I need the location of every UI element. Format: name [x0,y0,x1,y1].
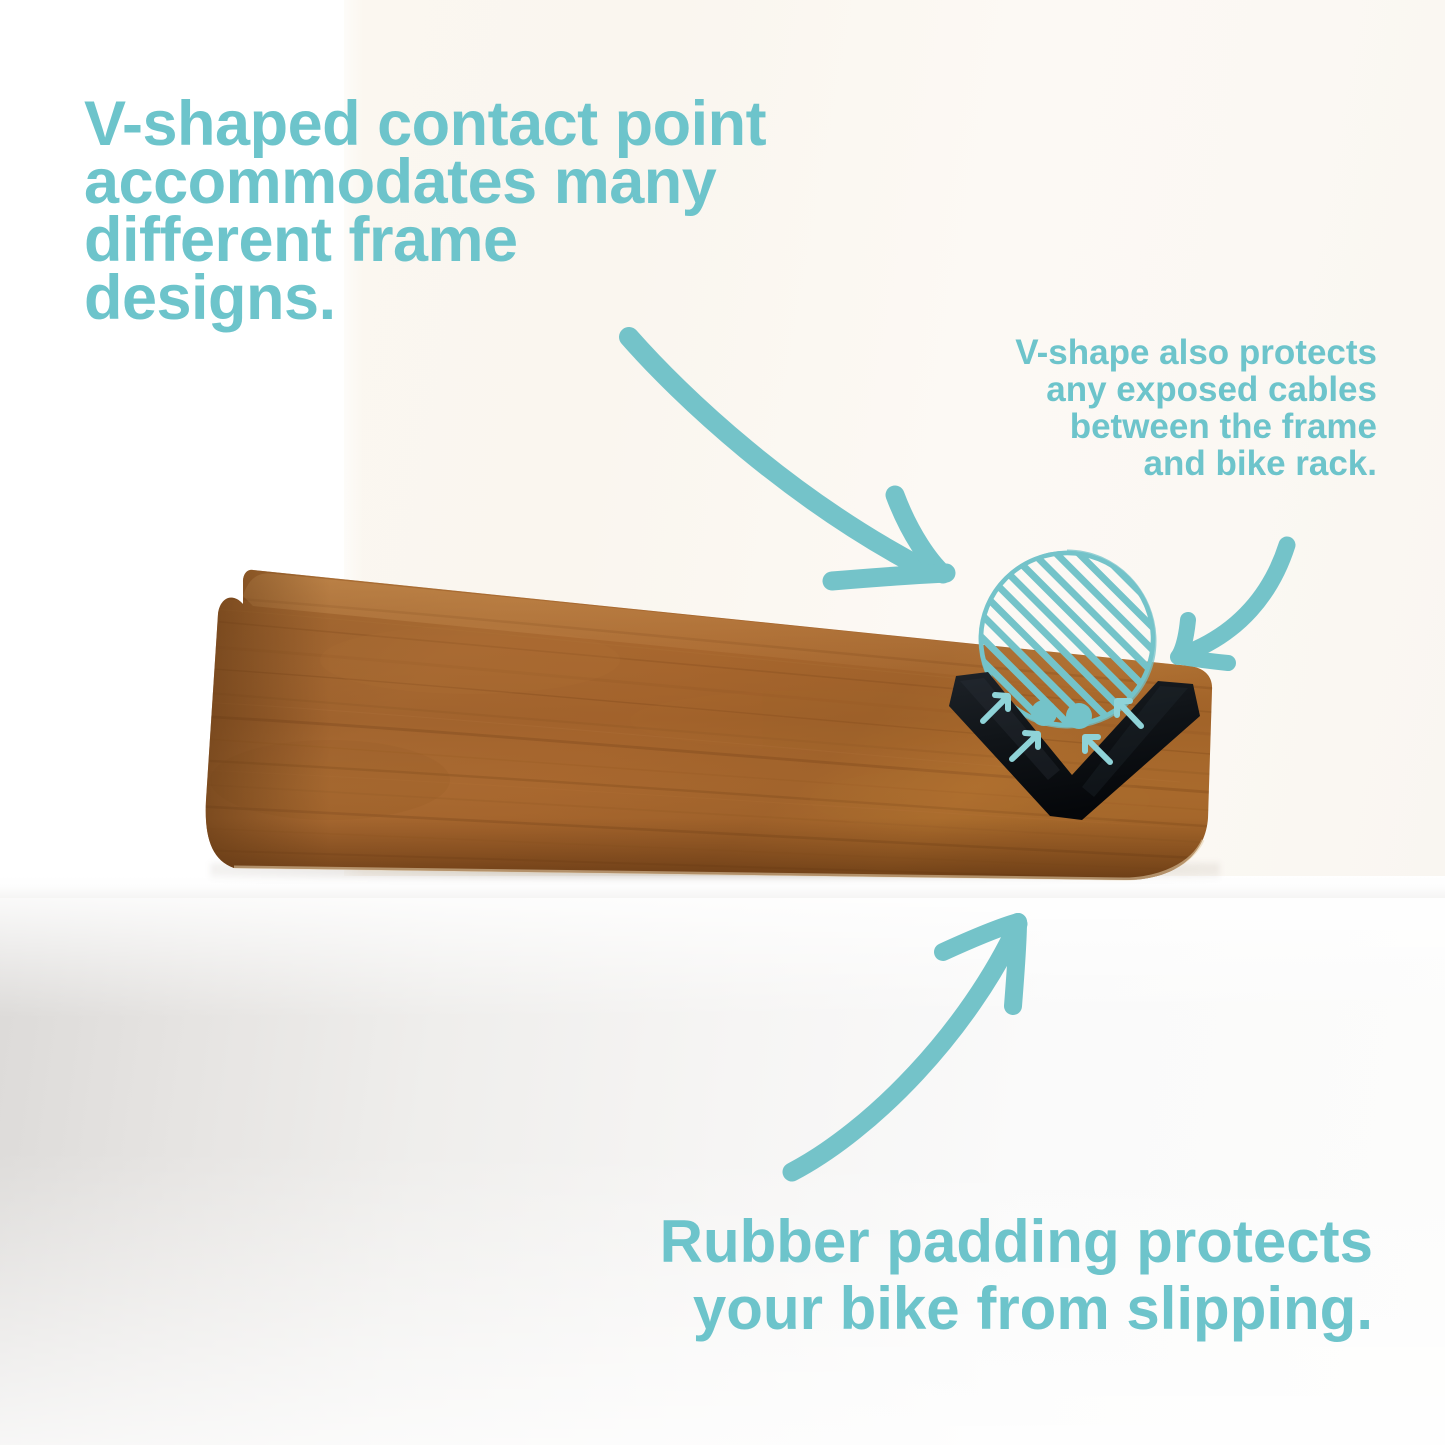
page-title: V-shaped contact point accommodates many… [84,96,964,328]
contact-arrow-right-outer-icon [1117,701,1141,726]
contact-arrows [983,695,1141,762]
contact-arrow-left-outer-icon [983,695,1008,721]
callout-cable-protection: V-shape also protects any exposed cables… [857,334,1377,482]
curved-arrow-up-right-icon [792,922,1018,1172]
contact-arrow-left-inner-icon [1012,733,1038,759]
caption-rubber-padding: Rubber padding protects your bike from s… [0,1208,1445,1342]
contact-arrow-right-inner-icon [1085,737,1110,762]
curved-arrow-down-left-icon [1178,545,1287,663]
product-infographic: V-shaped contact point accommodates many… [0,0,1445,1445]
